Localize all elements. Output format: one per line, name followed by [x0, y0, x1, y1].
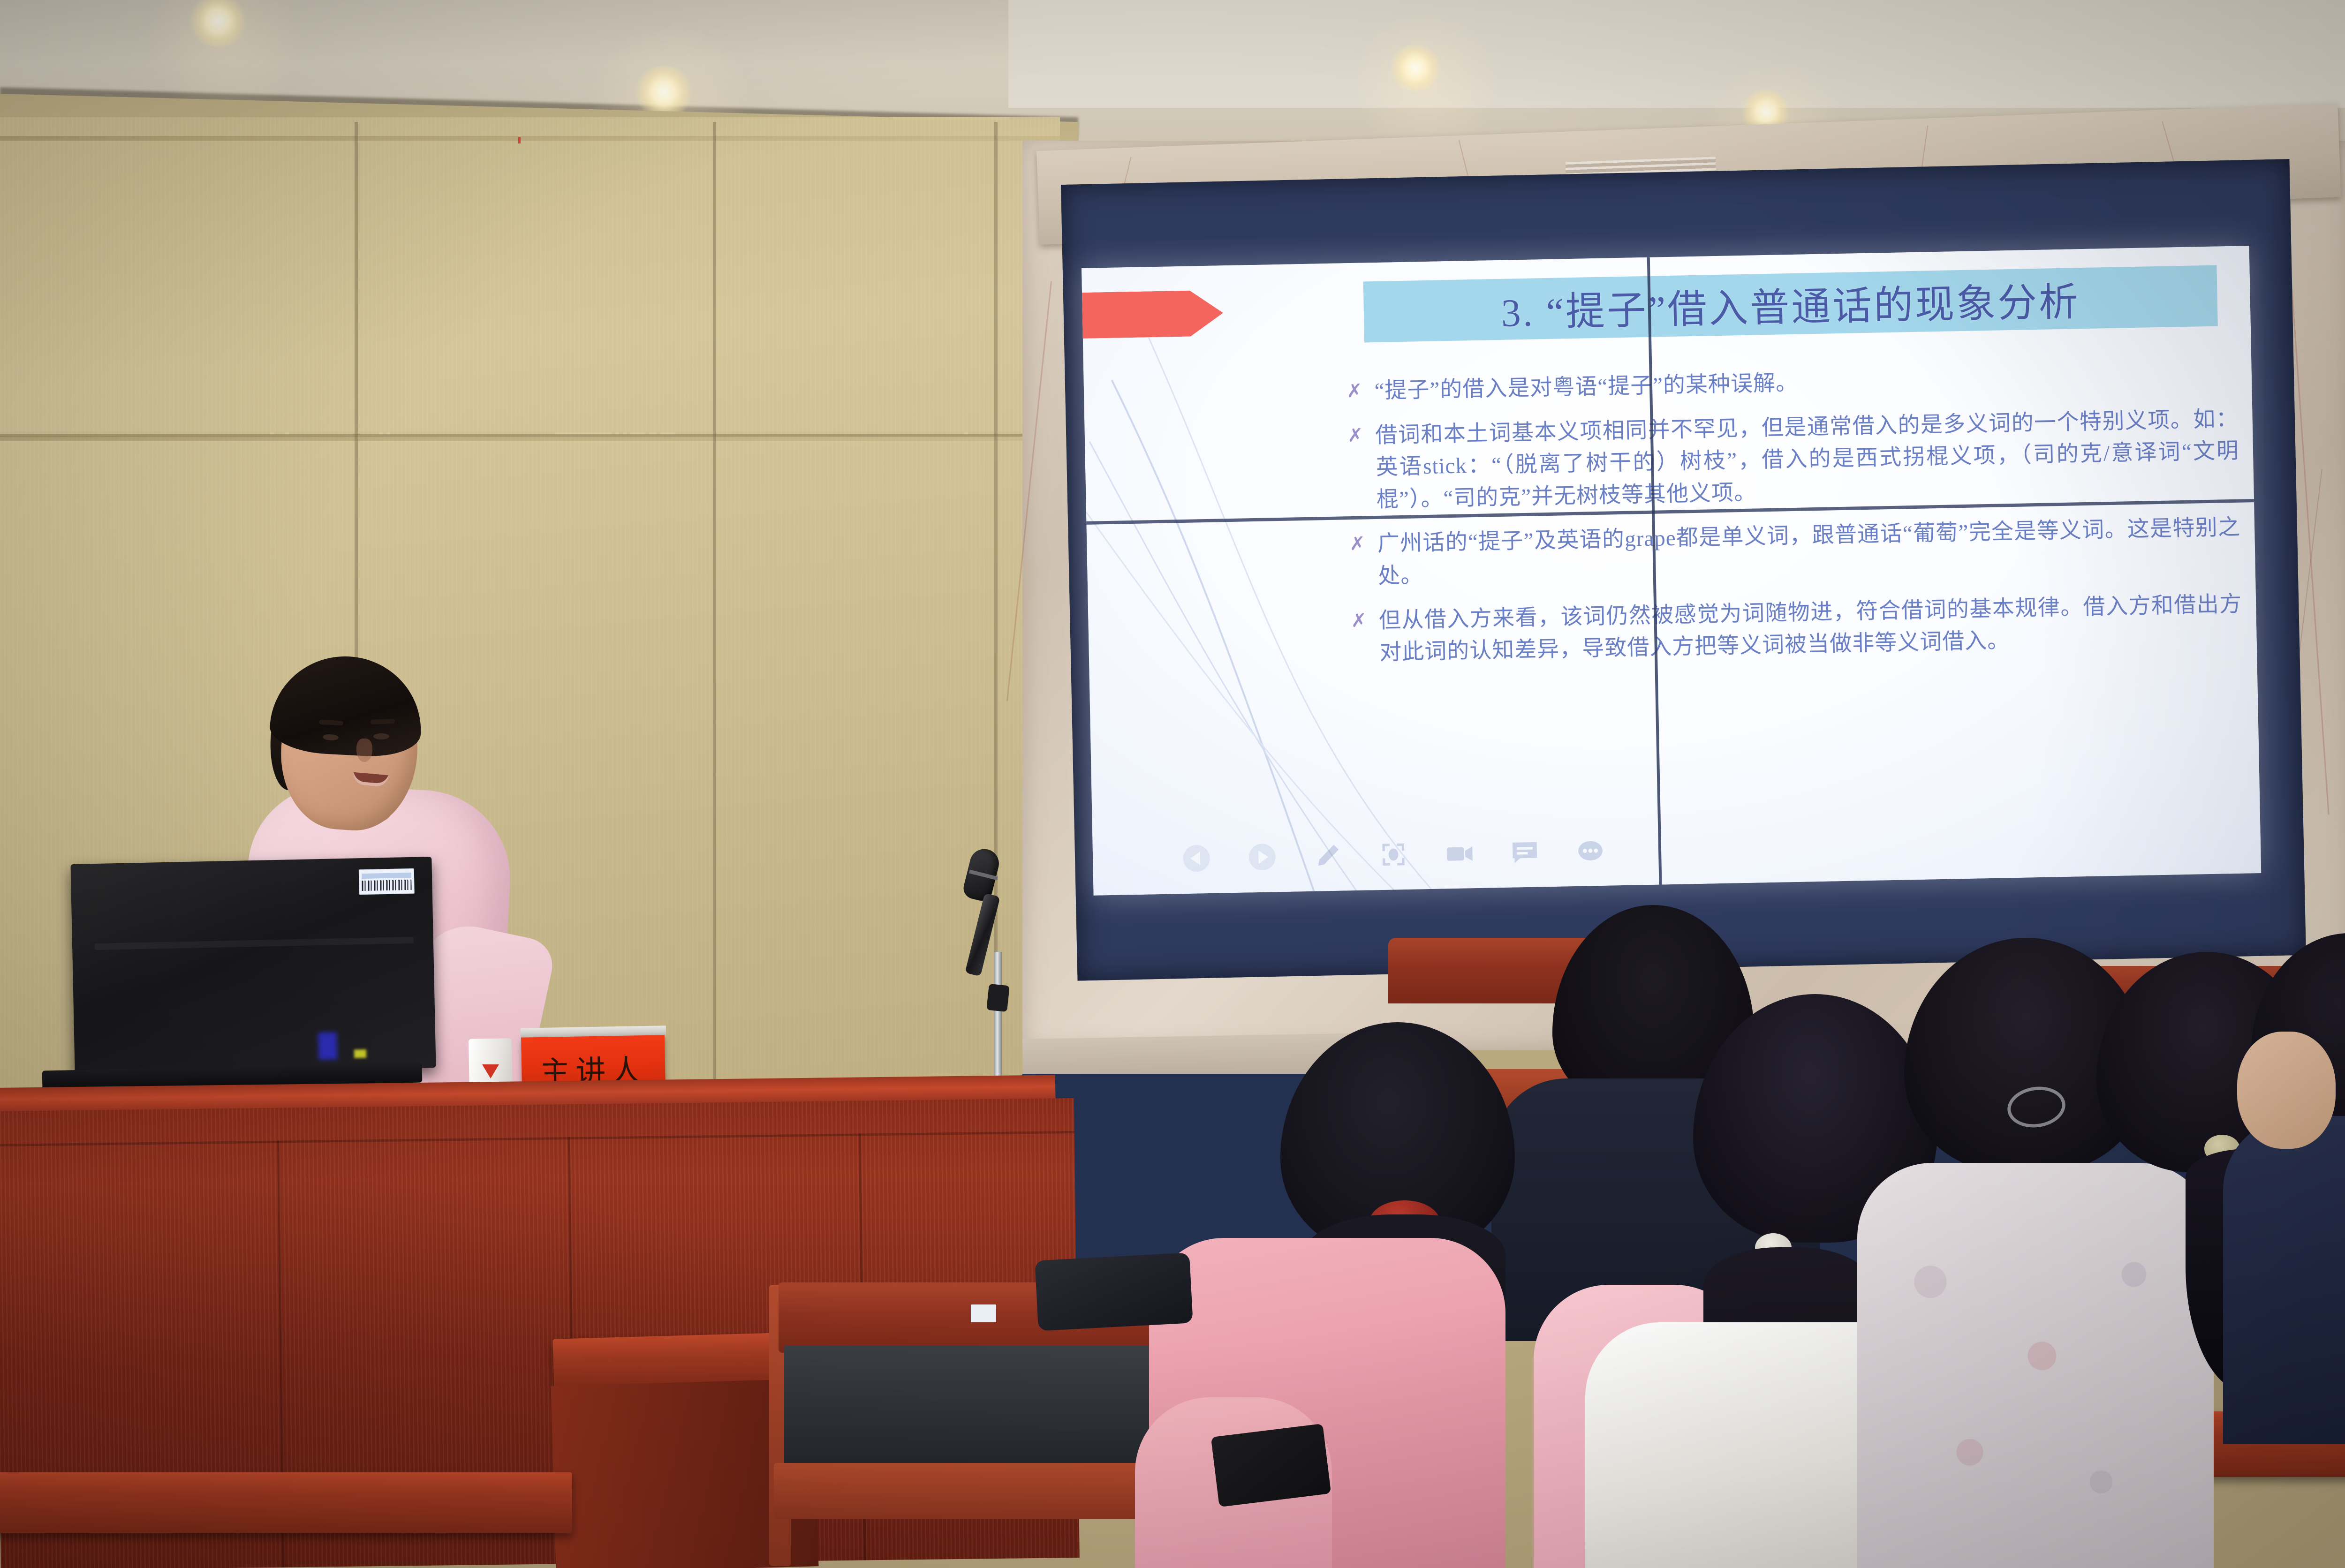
monitor-asset-label [359, 868, 415, 895]
list-item: ✗ 但从借入方来看，该词仍然被感觉为词随物进，符合借词的基本规律。借入方和借出方… [1351, 588, 2243, 670]
wall-seam-horizontal [0, 434, 1060, 437]
ceiling-right-section [1008, 0, 2345, 108]
list-item: ✗ 借词和本土词基本义项相同并不罕见，但是通常借入的是多义词的一个特别义项。如：… [1347, 403, 2240, 516]
speaker-eyebrow-right [371, 719, 395, 724]
monitor-status-led-blue [318, 1032, 337, 1060]
camera-video-icon[interactable] [1445, 838, 1474, 868]
projected-slide: 3. “提子”借入普通话的现象分析 ✗ “提子”的借入是对粤语“提子”的某种误解… [1082, 246, 2261, 896]
chair-back-cushion [784, 1346, 1169, 1472]
next-slide-icon[interactable] [1248, 842, 1277, 872]
chair-seat-shelf [774, 1463, 1182, 1519]
previous-slide-icon[interactable] [1182, 844, 1211, 873]
audience-body-1 [2223, 1116, 2345, 1444]
bench-dark-object [1035, 1252, 1193, 1331]
subtitles-icon[interactable] [1510, 837, 1539, 867]
wall-trim-band-2 [0, 436, 1060, 441]
bench-desk-far-left [0, 1472, 572, 1533]
wall-seam-2 [713, 122, 716, 1102]
speaker-nose [356, 739, 372, 762]
laser-pointer-icon[interactable] [1379, 840, 1408, 869]
wall-trim-band [0, 136, 1060, 141]
bag-strap [1211, 1424, 1331, 1507]
ceiling-light-3 [1388, 45, 1443, 91]
bullet-text: 但从借入方来看，该词仍然被感觉为词随物进，符合借词的基本规律。借入方和借出方对此… [1378, 588, 2243, 669]
bullet-marker-icon: ✗ [1349, 528, 1366, 558]
shirt-pattern [1871, 1200, 2200, 1568]
computer-monitor [70, 857, 436, 1075]
audience-face-1 [2237, 1032, 2336, 1149]
bullet-text: 广州话的“提子”及英语的grape都是单义词，跟普通话“葡萄”完全是等义词。这是… [1377, 512, 2241, 593]
pen-annotation-icon[interactable] [1313, 841, 1343, 871]
list-item: ✗ 广州话的“提子”及英语的grape都是单义词，跟普通话“葡萄”完全是等义词。… [1349, 512, 2241, 593]
more-options-icon[interactable] [1575, 836, 1605, 866]
bullet-text: 借词和本土词基本义项相同并不罕见，但是通常借入的是多义词的一个特别义项。如：英语… [1375, 403, 2240, 516]
microphone-clip-2 [986, 984, 1010, 1012]
slide-title: 3. “提子”借入普通话的现象分析 [1500, 270, 2080, 338]
wall-laser-dot [518, 137, 521, 143]
chair-seat-number-sticker [971, 1304, 996, 1322]
monitor-vent [95, 937, 414, 950]
lecture-hall-photo: 3. “提子”借入普通话的现象分析 ✗ “提子”的借入是对粤语“提子”的某种误解… [0, 0, 2345, 1568]
monitor-status-led-amber [354, 1049, 366, 1058]
bullet-marker-icon: ✗ [1347, 420, 1363, 449]
slide-bullet-list: ✗ “提子”的借入是对粤语“提子”的某种误解。 ✗ 借词和本土词基本义项相同并不… [1346, 359, 2243, 682]
bullet-marker-icon: ✗ [1346, 376, 1363, 405]
bullet-marker-icon: ✗ [1351, 605, 1367, 634]
